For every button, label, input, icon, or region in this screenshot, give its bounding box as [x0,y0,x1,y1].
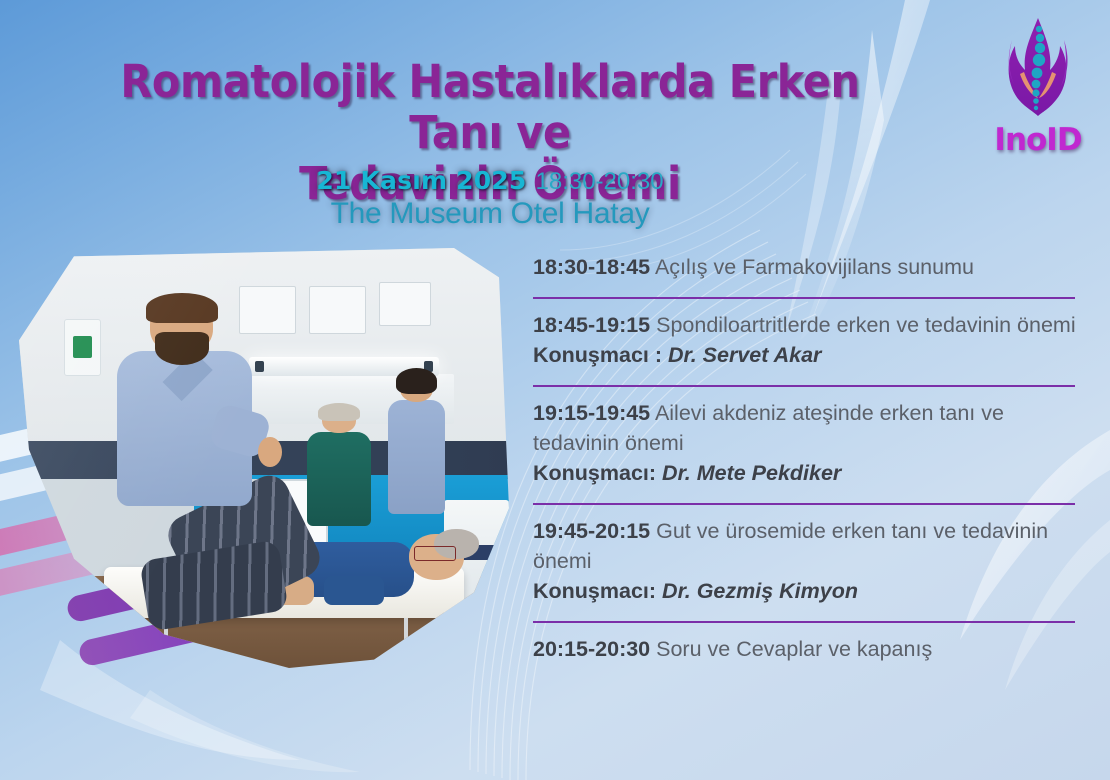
program-divider [533,503,1075,505]
event-date: 21 Kasım 2025 [316,166,526,195]
event-time: 18:30-20:30 [536,168,664,195]
title-line-1: Romatolojik Hastalıklarda Erken Tanı ve [120,55,859,159]
program-divider [533,621,1075,623]
event-poster: Romatolojik Hastalıklarda Erken Tanı ve … [0,0,1110,780]
program-item: 19:45-20:15 Gut ve ürosemide erken tanı … [533,516,1078,612]
clinic-photo-image [14,248,514,668]
speaker-label: Konuşmacı: [533,579,656,603]
speaker-label: Konuşmacı : [533,343,662,367]
program-time: 19:45-20:15 [533,519,650,543]
program-item: 18:45-19:15 Spondiloartritlerde erken ve… [533,310,1078,376]
program-list: 18:30-18:45 Açılış ve Farmakovijilans su… [533,252,1078,670]
program-item: 20:15-20:30 Soru ve Cevaplar ve kapanış [533,634,1078,670]
program-item: 18:30-18:45 Açılış ve Farmakovijilans su… [533,252,1078,288]
program-item: 19:15-19:45 Ailevi akdeniz ateşinde erke… [533,398,1078,494]
program-desc: Soru ve Cevaplar ve kapanış [656,637,932,661]
speaker-name: Dr. Servet Akar [668,343,821,367]
program-divider [533,297,1075,299]
event-datetime: 21 Kasım 202518:30-20:30 [60,166,920,196]
program-divider [533,385,1075,387]
speaker-name: Dr. Mete Pekdiker [662,461,841,485]
speaker-name: Dr. Gezmiş Kimyon [662,579,858,603]
program-time: 19:15-19:45 [533,401,650,425]
program-time: 18:45-19:15 [533,313,650,337]
program-desc: Açılış ve Farmakovijilans sunumu [655,255,974,279]
program-time: 20:15-20:30 [533,637,650,661]
program-time: 18:30-18:45 [533,255,650,279]
brand-logo: InoID [982,12,1094,160]
clinic-photo [14,248,514,668]
logo-text: InoID [982,122,1094,158]
program-desc: Spondiloartritlerde erken ve tedavinin ö… [656,313,1076,337]
speaker-label: Konuşmacı: [533,461,656,485]
event-venue: The Museum Otel Hatay [60,197,920,231]
